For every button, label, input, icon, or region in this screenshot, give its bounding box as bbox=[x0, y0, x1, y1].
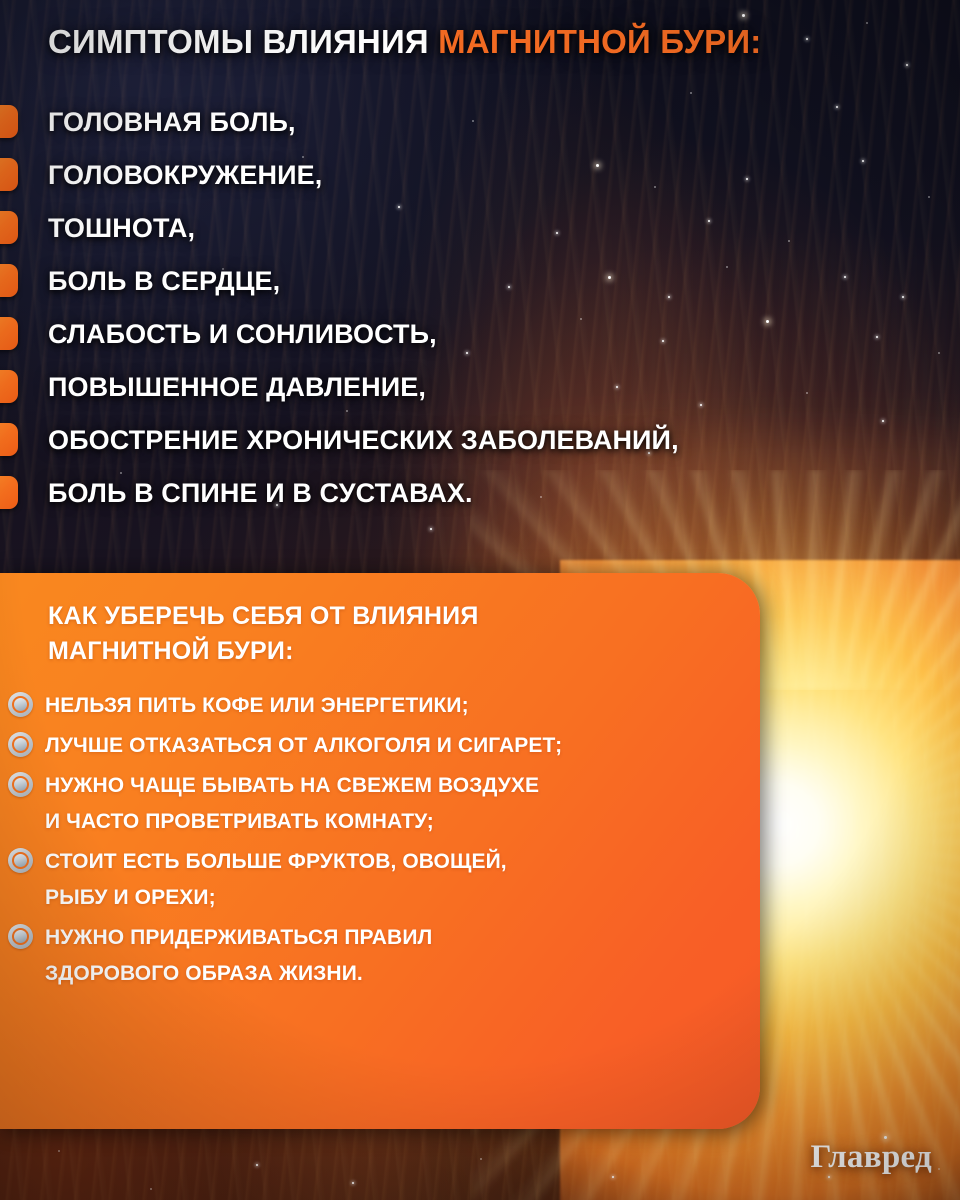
advice-panel-title-line2: МАГНИТНОЙ БУРИ: bbox=[48, 637, 294, 665]
advice-panel-title-line1: КАК УБЕРЕЧЬ СЕБЯ ОТ ВЛИЯНИЯ bbox=[48, 602, 479, 630]
circle-ring-bullet-icon bbox=[8, 772, 33, 797]
symptom-label: БОЛЬ В СПИНЕ И В СУСТАВАХ. bbox=[48, 478, 473, 509]
list-item: ГОЛОВОКРУЖЕНИЕ, bbox=[0, 149, 960, 202]
orange-square-bullet-icon bbox=[0, 264, 18, 297]
list-item: БОЛЬ В СЕРДЦЕ, bbox=[0, 255, 960, 308]
list-item: СТОИТ ЕСТЬ БОЛЬШЕ ФРУКТОВ, ОВОЩЕЙ, РЫБУ … bbox=[0, 843, 760, 915]
advice-label: ЛУЧШЕ ОТКАЗАТЬСЯ ОТ АЛКОГОЛЯ И СИГАРЕТ; bbox=[0, 727, 760, 763]
symptom-label: БОЛЬ В СЕРДЦЕ, bbox=[48, 266, 280, 297]
orange-square-bullet-icon bbox=[0, 158, 18, 191]
advice-label-continued: РЫБУ И ОРЕХИ; bbox=[0, 879, 760, 915]
page-title-orange-part: МАГНИТНОЙ БУРИ: bbox=[438, 23, 761, 60]
symptom-label: ПОВЫШЕННОЕ ДАВЛЕНИЕ, bbox=[48, 372, 426, 403]
list-item: ОБОСТРЕНИЕ ХРОНИЧЕСКИХ ЗАБОЛЕВАНИЙ, bbox=[0, 414, 960, 467]
advice-label: СТОИТ ЕСТЬ БОЛЬШЕ ФРУКТОВ, ОВОЩЕЙ, bbox=[0, 843, 760, 879]
advice-panel: КАК УБЕРЕЧЬ СЕБЯ ОТ ВЛИЯНИЯ МАГНИТНОЙ БУ… bbox=[0, 573, 760, 1129]
advice-label: НУЖНО ЧАЩЕ БЫВАТЬ НА СВЕЖЕМ ВОЗДУХЕ bbox=[0, 767, 760, 803]
page-title-white-part: СИМПТОМЫ ВЛИЯНИЯ bbox=[48, 23, 438, 60]
list-item: ЛУЧШЕ ОТКАЗАТЬСЯ ОТ АЛКОГОЛЯ И СИГАРЕТ; bbox=[0, 727, 760, 763]
symptom-label: СЛАБОСТЬ И СОНЛИВОСТЬ, bbox=[48, 319, 437, 350]
advice-label: НЕЛЬЗЯ ПИТЬ КОФЕ ИЛИ ЭНЕРГЕТИКИ; bbox=[0, 687, 760, 723]
orange-square-bullet-icon bbox=[0, 476, 18, 509]
symptom-label: ГОЛОВНАЯ БОЛЬ, bbox=[48, 107, 296, 138]
list-item: ПОВЫШЕННОЕ ДАВЛЕНИЕ, bbox=[0, 361, 960, 414]
symptom-label: ТОШНОТА, bbox=[48, 213, 195, 244]
orange-square-bullet-icon bbox=[0, 370, 18, 403]
advice-panel-title: КАК УБЕРЕЧЬ СЕБЯ ОТ ВЛИЯНИЯ МАГНИТНОЙ БУ… bbox=[48, 599, 479, 668]
orange-square-bullet-icon bbox=[0, 211, 18, 244]
advice-label: НУЖНО ПРИДЕРЖИВАТЬСЯ ПРАВИЛ bbox=[0, 919, 760, 955]
list-item: ТОШНОТА, bbox=[0, 202, 960, 255]
orange-square-bullet-icon bbox=[0, 317, 18, 350]
brand-logo: Главред bbox=[811, 1139, 932, 1176]
circle-ring-bullet-icon bbox=[8, 924, 33, 949]
circle-ring-bullet-icon bbox=[8, 732, 33, 757]
list-item: НУЖНО ПРИДЕРЖИВАТЬСЯ ПРАВИЛ ЗДОРОВОГО ОБ… bbox=[0, 919, 760, 991]
advice-label-continued: ЗДОРОВОГО ОБРАЗА ЖИЗНИ. bbox=[0, 955, 760, 991]
advice-label-continued: И ЧАСТО ПРОВЕТРИВАТЬ КОМНАТУ; bbox=[0, 803, 760, 839]
circle-ring-bullet-icon bbox=[8, 692, 33, 717]
orange-square-bullet-icon bbox=[0, 423, 18, 456]
symptom-label: ОБОСТРЕНИЕ ХРОНИЧЕСКИХ ЗАБОЛЕВАНИЙ, bbox=[48, 425, 679, 456]
list-item: СЛАБОСТЬ И СОНЛИВОСТЬ, bbox=[0, 308, 960, 361]
symptom-label: ГОЛОВОКРУЖЕНИЕ, bbox=[48, 160, 322, 191]
circle-ring-bullet-icon bbox=[8, 848, 33, 873]
symptoms-list: ГОЛОВНАЯ БОЛЬ, ГОЛОВОКРУЖЕНИЕ, ТОШНОТА, … bbox=[0, 96, 960, 520]
list-item: НУЖНО ЧАЩЕ БЫВАТЬ НА СВЕЖЕМ ВОЗДУХЕ И ЧА… bbox=[0, 767, 760, 839]
list-item: БОЛЬ В СПИНЕ И В СУСТАВАХ. bbox=[0, 467, 960, 520]
infographic-poster: СИМПТОМЫ ВЛИЯНИЯ МАГНИТНОЙ БУРИ: ГОЛОВНА… bbox=[0, 0, 960, 1200]
orange-square-bullet-icon bbox=[0, 105, 18, 138]
advice-list: НЕЛЬЗЯ ПИТЬ КОФЕ ИЛИ ЭНЕРГЕТИКИ; ЛУЧШЕ О… bbox=[0, 687, 760, 995]
list-item: ГОЛОВНАЯ БОЛЬ, bbox=[0, 96, 960, 149]
page-title: СИМПТОМЫ ВЛИЯНИЯ МАГНИТНОЙ БУРИ: bbox=[48, 24, 761, 60]
list-item: НЕЛЬЗЯ ПИТЬ КОФЕ ИЛИ ЭНЕРГЕТИКИ; bbox=[0, 687, 760, 723]
